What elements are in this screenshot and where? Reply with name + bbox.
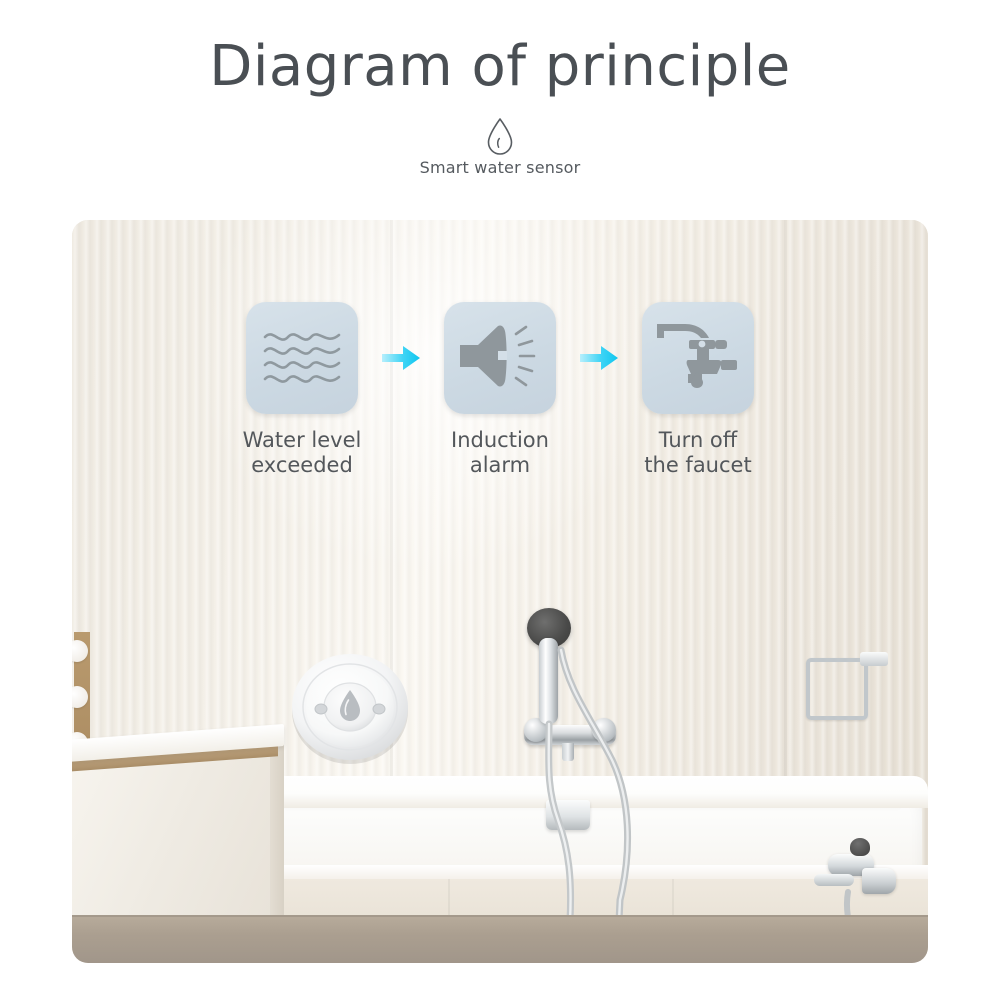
alarm-horn-speaker-icon: [458, 322, 542, 394]
towel-ring-plate: [860, 652, 888, 666]
subtitle-text: Smart water sensor: [420, 158, 581, 177]
bathtub-rim: [252, 776, 928, 808]
bidet-sprayer-head: [850, 838, 870, 856]
step-label-2: Induction alarm: [451, 428, 549, 478]
bidet-sprayer-handle: [814, 874, 854, 886]
shower-hose-holder: [546, 800, 590, 830]
arrow-right-icon: [576, 302, 622, 414]
header: Diagram of principle Smart water sensor: [0, 0, 1000, 177]
diagram-step-turn-off-the-faucet[interactable]: Turn off the faucet: [622, 302, 774, 478]
step-label-1: Water level exceeded: [243, 428, 362, 478]
smart-water-sensor-device[interactable]: [288, 648, 412, 766]
step-card-1: [246, 302, 358, 414]
page-root: Diagram of principle Smart water sensor: [0, 0, 1000, 1000]
step-label-3: Turn off the faucet: [644, 428, 751, 478]
bidet-sprayer-holder: [862, 868, 896, 894]
towel-ring: [806, 658, 868, 720]
bathroom-photo: Water level exceeded: [72, 220, 928, 963]
floor-edge-line: [72, 915, 928, 917]
principle-diagram: Water level exceeded: [72, 302, 928, 478]
diagram-step-water-level-exceeded[interactable]: Water level exceeded: [226, 302, 378, 478]
step-card-3: [642, 302, 754, 414]
subtitle-block: Smart water sensor: [0, 116, 1000, 177]
faucet-drip-icon: [655, 318, 741, 398]
floor: [72, 915, 928, 963]
page-title: Diagram of principle: [0, 36, 1000, 98]
shower-handset-grip: [539, 638, 558, 724]
mixer-flow-knob: [592, 718, 616, 742]
step-card-2: [444, 302, 556, 414]
water-waves-icon: [260, 324, 344, 392]
mixer-outlet: [562, 743, 574, 761]
water-drop-outline-icon: [483, 116, 517, 156]
arrow-right-icon: [378, 302, 424, 414]
diagram-step-induction-alarm[interactable]: Induction alarm: [424, 302, 576, 478]
